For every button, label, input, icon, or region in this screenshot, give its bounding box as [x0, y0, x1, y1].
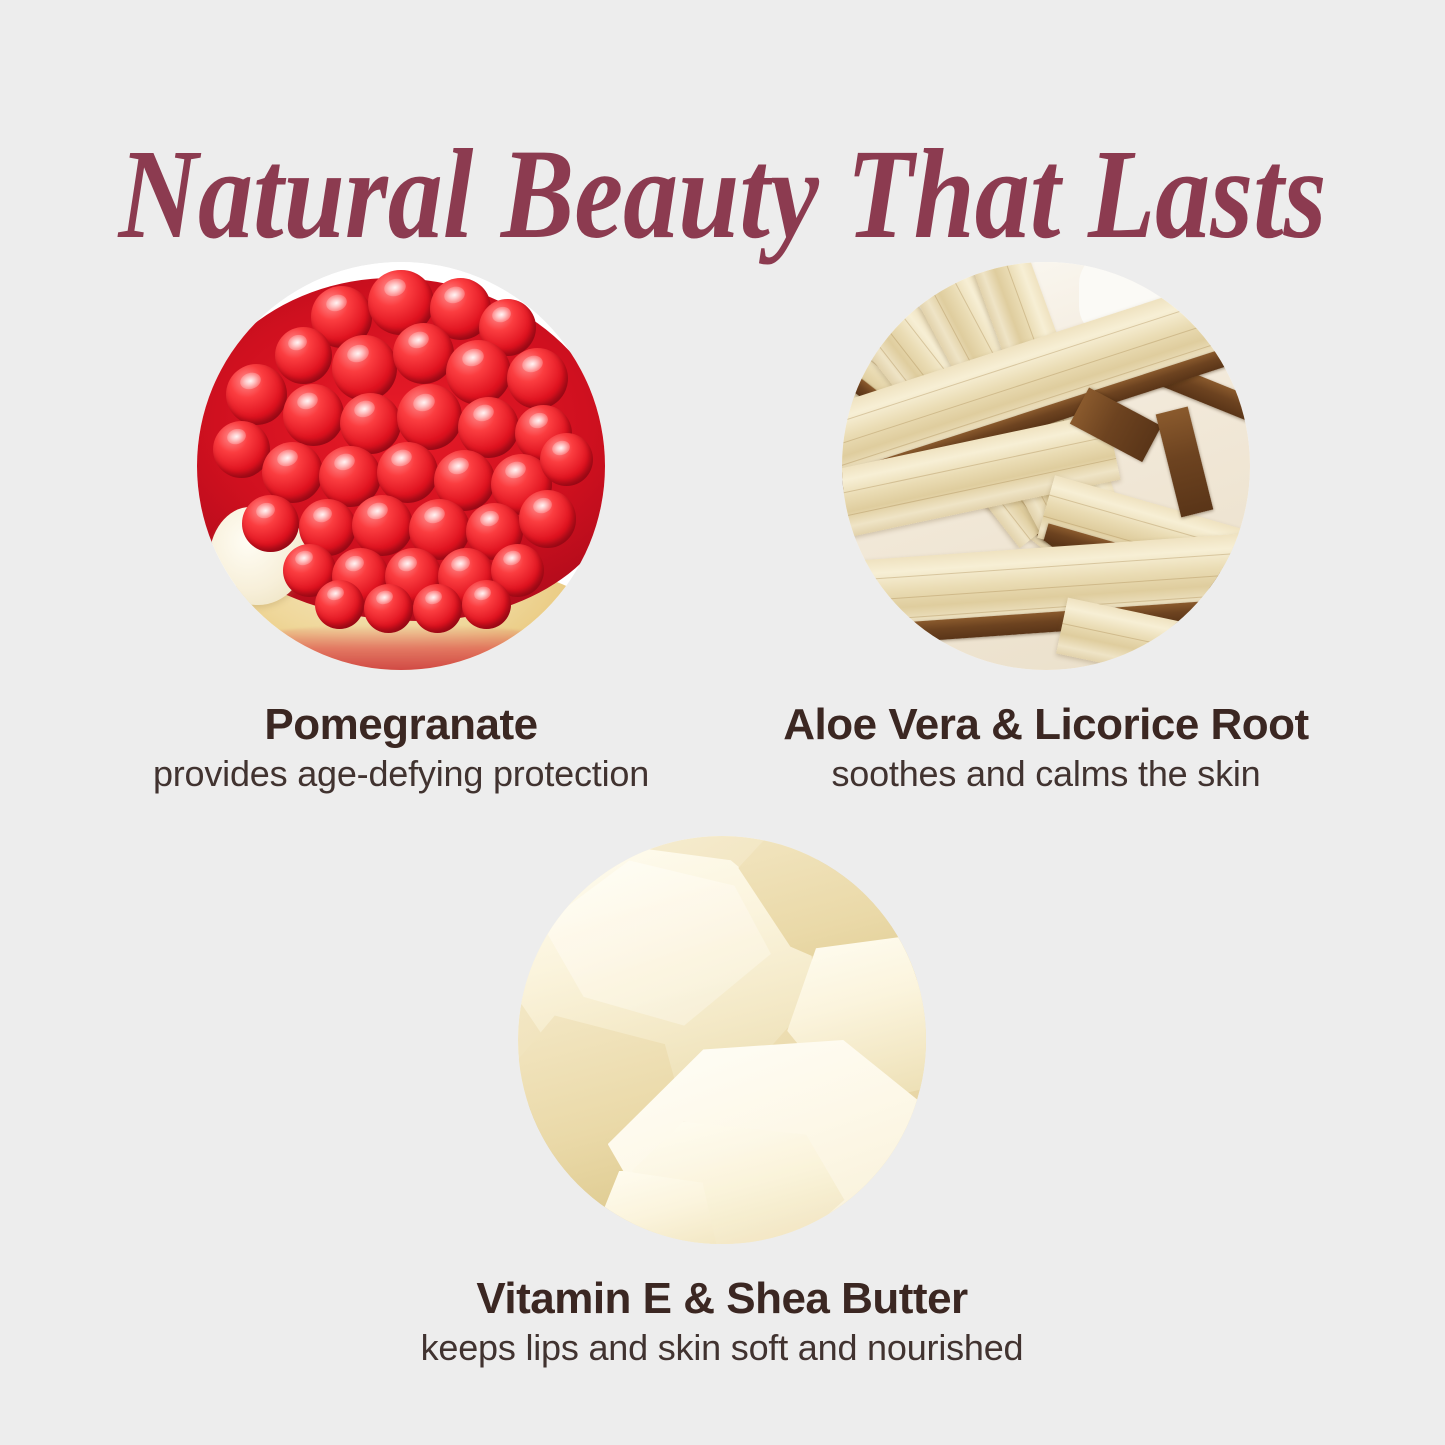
ingredient-subtitle-pomegranate: provides age-defying protection	[97, 754, 705, 794]
ingredient-title-licorice: Aloe Vera & Licorice Root	[742, 702, 1350, 748]
licorice-root-image	[842, 262, 1250, 670]
ingredient-card-pomegranate: Pomegranate provides age-defying protect…	[97, 262, 705, 794]
ingredient-card-shea: Vitamin E & Shea Butter keeps lips and s…	[418, 836, 1026, 1368]
ingredients-infographic: Natural Beauty That Lasts	[0, 0, 1445, 1445]
ingredient-subtitle-shea: keeps lips and skin soft and nourished	[418, 1328, 1026, 1368]
ingredient-title-shea: Vitamin E & Shea Butter	[418, 1276, 1026, 1322]
pomegranate-image	[197, 262, 605, 670]
ingredient-subtitle-licorice: soothes and calms the skin	[742, 754, 1350, 794]
page-title: Natural Beauty That Lasts	[101, 130, 1344, 258]
shea-butter-image	[518, 836, 926, 1244]
ingredient-card-licorice: Aloe Vera & Licorice Root soothes and ca…	[742, 262, 1350, 794]
ingredient-title-pomegranate: Pomegranate	[97, 702, 705, 748]
